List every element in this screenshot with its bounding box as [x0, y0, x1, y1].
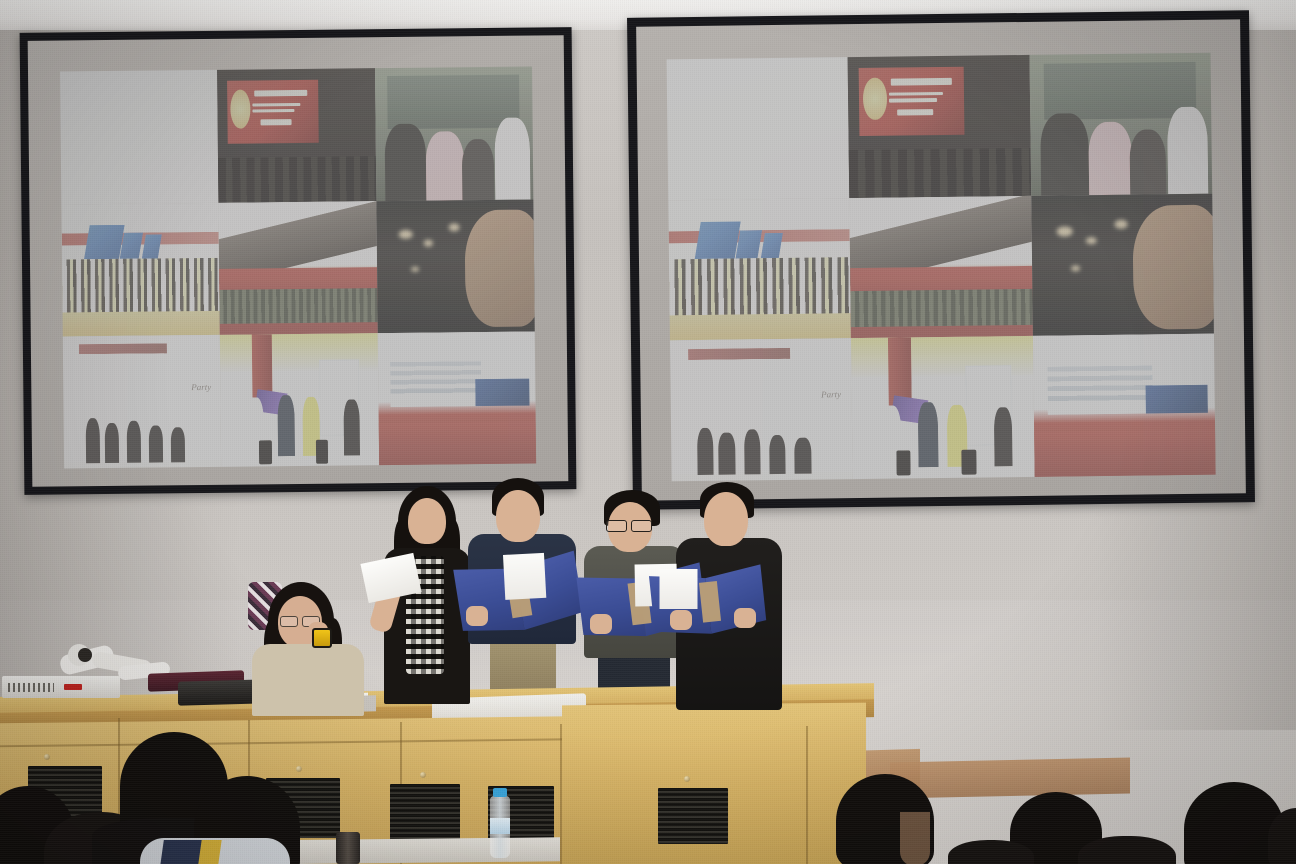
- collage-tile-classroom-students-talking: [375, 67, 534, 201]
- bottle-label: [490, 818, 510, 834]
- audio-amplifier[interactable]: [2, 676, 120, 698]
- microphone-capsule: [78, 648, 92, 662]
- collage-tile-night-campus-stone: [376, 199, 535, 333]
- collage-tile-military-training-parade: [219, 201, 378, 335]
- collage-tile-military-training-parade: [850, 196, 1033, 339]
- collage-tile-ceremony-red-slide: [217, 68, 376, 202]
- student-4: [676, 482, 784, 710]
- podium-seam: [806, 726, 808, 864]
- collage-tile-ceremony-red-slide: [848, 55, 1031, 198]
- collage-tile-arrival-with-luggage-banner: [220, 333, 379, 467]
- water-bottle[interactable]: [490, 796, 510, 858]
- right-screen: Party: [627, 10, 1255, 510]
- bottle-cap-icon: [493, 788, 507, 797]
- eyeglasses-icon: [606, 520, 652, 530]
- ventilation-panel: [390, 784, 460, 842]
- podium-knob[interactable]: [296, 766, 302, 772]
- collage-tile-party-stage-performance: Party: [63, 335, 222, 469]
- podium-knob[interactable]: [684, 776, 690, 782]
- power-led-icon: [64, 684, 82, 690]
- presenter-jacket: [252, 644, 364, 716]
- drink-can[interactable]: [336, 832, 360, 864]
- audience-head: [948, 840, 1034, 864]
- collage-tile-classroom-students-talking: [1029, 53, 1212, 196]
- collage-tile-party-stage-performance: Party: [670, 339, 853, 482]
- podium-knob[interactable]: [44, 754, 50, 760]
- audience-hair-strand: [900, 812, 930, 864]
- collage-tile-campus-building-red-carpet: [377, 331, 536, 465]
- collage-tile-cherry-blossom-tree: [667, 57, 850, 200]
- left-screen-surface: Party: [28, 35, 569, 487]
- floor-strip-2: [890, 757, 1130, 798]
- collage-party-label: Party: [821, 389, 841, 399]
- collage-tile-arrival-with-luggage-banner: [851, 336, 1034, 479]
- collage-party-label: Party: [191, 382, 211, 392]
- audience-jacket-stripe: [198, 840, 221, 864]
- collage-tile-cherry-blossom-tree: [60, 70, 219, 204]
- left-screen: Party: [20, 27, 577, 495]
- photo-collage-left: Party: [60, 67, 536, 469]
- photo-scene: Party: [0, 0, 1296, 864]
- collage-tile-blue-flags-group-photo: [668, 198, 851, 341]
- wristwatch: [312, 628, 332, 648]
- collage-tile-blue-flags-group-photo: [62, 202, 221, 336]
- seated-presenter: [248, 582, 366, 712]
- photo-collage-right: Party: [667, 53, 1216, 481]
- podium-seam: [560, 724, 562, 864]
- collage-tile-night-campus-stone: [1031, 193, 1214, 336]
- student-2: [468, 478, 578, 704]
- collage-tile-campus-building-red-carpet: [1033, 334, 1216, 477]
- podium-knob[interactable]: [420, 772, 426, 778]
- ventilation-panel: [658, 788, 728, 844]
- right-screen-surface: Party: [636, 19, 1246, 500]
